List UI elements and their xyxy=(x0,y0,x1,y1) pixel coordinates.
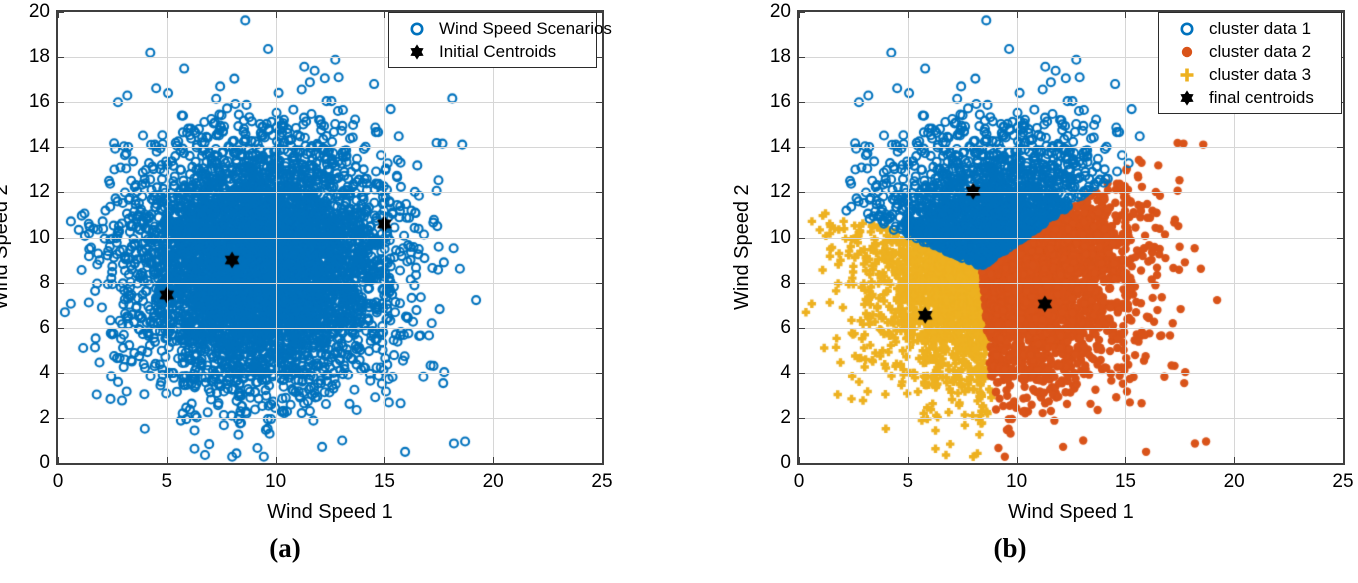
x-tick-label: 25 xyxy=(1332,471,1353,493)
x-tick-label: 20 xyxy=(1224,471,1245,493)
filled-hexagram-icon xyxy=(1177,88,1197,108)
y-tick xyxy=(799,147,805,148)
y-tick xyxy=(58,238,64,239)
legend-marker xyxy=(1165,19,1209,39)
x-tick-label: 20 xyxy=(483,471,504,493)
panel-b: 051015202502468101214161820 Wind Speed 1… xyxy=(679,0,1358,583)
x-tick xyxy=(908,12,909,18)
y-tick-label: 2 xyxy=(749,407,791,429)
x-tick xyxy=(1343,457,1344,463)
gridline-v xyxy=(384,12,385,463)
gridline-h xyxy=(58,147,602,148)
x-tick xyxy=(602,457,603,463)
y-tick xyxy=(58,102,64,103)
y-tick xyxy=(596,463,602,464)
x-tick-label: 15 xyxy=(374,471,395,493)
x-axis-title-b: Wind Speed 1 xyxy=(921,501,1221,524)
y-tick xyxy=(1337,373,1343,374)
x-tick-label: 25 xyxy=(591,471,612,493)
y-tick xyxy=(799,12,805,13)
x-tick xyxy=(602,12,603,18)
legend-item: cluster data 1 xyxy=(1165,17,1333,40)
legend-b: cluster data 1cluster data 2cluster data… xyxy=(1158,12,1342,114)
legend-label: cluster data 2 xyxy=(1209,42,1311,62)
y-tick-label: 10 xyxy=(749,227,791,249)
y-tick xyxy=(596,102,602,103)
x-tick xyxy=(1017,457,1018,463)
legend-label: final centroids xyxy=(1209,88,1314,108)
gridline-v xyxy=(908,12,909,463)
x-tick-label: 5 xyxy=(903,471,914,493)
figure-root: 051015202502468101214161820 Wind Speed 1… xyxy=(0,0,1358,583)
y-tick xyxy=(596,328,602,329)
y-tick xyxy=(58,147,64,148)
legend-item: final centroids xyxy=(1165,86,1333,109)
gridline-h xyxy=(58,283,602,284)
subfigure-caption-b: (b) xyxy=(994,533,1027,564)
y-tick xyxy=(1337,283,1343,284)
y-tick-label: 8 xyxy=(8,272,50,294)
y-tick xyxy=(1337,192,1343,193)
x-tick-label: 5 xyxy=(162,471,173,493)
panel-a: 051015202502468101214161820 Wind Speed 1… xyxy=(0,0,679,583)
y-tick xyxy=(58,192,64,193)
y-tick xyxy=(1337,328,1343,329)
legend-item: Initial Centroids xyxy=(395,40,588,63)
y-tick xyxy=(799,102,805,103)
legend-item: cluster data 3 xyxy=(1165,63,1333,86)
y-tick-label: 4 xyxy=(8,362,50,384)
y-tick-label: 2 xyxy=(8,407,50,429)
gridline-h xyxy=(58,328,602,329)
y-tick-label: 14 xyxy=(8,136,50,158)
gridline-h xyxy=(799,418,1343,419)
gridline-h xyxy=(799,328,1343,329)
y-tick-label: 14 xyxy=(749,136,791,158)
gridline-v xyxy=(167,12,168,463)
subfigure-caption-a: (a) xyxy=(269,533,300,564)
y-tick xyxy=(1337,463,1343,464)
x-tick-label: 0 xyxy=(794,471,805,493)
y-tick-label: 6 xyxy=(8,317,50,339)
y-tick xyxy=(58,418,64,419)
gridline-h xyxy=(58,373,602,374)
y-tick xyxy=(1337,147,1343,148)
gridline-h xyxy=(58,192,602,193)
x-tick xyxy=(1125,457,1126,463)
legend-item: cluster data 2 xyxy=(1165,40,1333,63)
legend-marker xyxy=(1165,65,1209,85)
gridline-v xyxy=(1125,12,1126,463)
y-tick-label: 16 xyxy=(8,91,50,113)
y-tick xyxy=(58,57,64,58)
y-tick-label: 18 xyxy=(8,46,50,68)
y-tick xyxy=(799,328,805,329)
gridline-v xyxy=(276,12,277,463)
plus-icon xyxy=(1177,65,1197,85)
x-tick xyxy=(167,457,168,463)
x-tick xyxy=(1234,457,1235,463)
y-tick xyxy=(58,463,64,464)
y-tick xyxy=(1337,418,1343,419)
y-tick xyxy=(58,328,64,329)
gridline-h xyxy=(799,373,1343,374)
y-tick xyxy=(596,373,602,374)
y-axis-title-b: Wind Speed 2 xyxy=(731,184,754,310)
y-axis-title-a: Wind Speed 2 xyxy=(0,184,13,310)
y-tick-label: 0 xyxy=(749,452,791,474)
legend-label: Initial Centroids xyxy=(439,42,556,62)
legend-a: Wind Speed ScenariosInitial Centroids xyxy=(388,12,597,68)
legend-marker xyxy=(395,19,439,39)
x-tick xyxy=(1125,12,1126,18)
x-tick xyxy=(167,12,168,18)
x-tick xyxy=(276,457,277,463)
legend-label: cluster data 3 xyxy=(1209,65,1311,85)
gridline-v xyxy=(493,12,494,463)
y-tick xyxy=(596,192,602,193)
y-tick xyxy=(799,373,805,374)
y-tick xyxy=(58,12,64,13)
y-tick xyxy=(799,57,805,58)
y-tick xyxy=(58,373,64,374)
y-tick xyxy=(596,418,602,419)
y-tick-label: 20 xyxy=(8,1,50,23)
x-tick xyxy=(1017,12,1018,18)
x-tick-label: 0 xyxy=(53,471,64,493)
gridline-h xyxy=(799,238,1343,239)
y-tick xyxy=(596,283,602,284)
x-tick xyxy=(493,457,494,463)
y-tick xyxy=(799,283,805,284)
gridline-h xyxy=(799,283,1343,284)
plot-area-a xyxy=(56,10,604,465)
legend-item: Wind Speed Scenarios xyxy=(395,17,588,40)
y-tick-label: 12 xyxy=(749,181,791,203)
x-tick xyxy=(384,457,385,463)
open-circle-icon xyxy=(1177,19,1197,39)
y-tick xyxy=(58,283,64,284)
gridline-h xyxy=(58,238,602,239)
x-tick-label: 15 xyxy=(1115,471,1136,493)
y-tick xyxy=(799,463,805,464)
y-tick-label: 0 xyxy=(8,452,50,474)
filled-hexagram-icon xyxy=(407,42,427,62)
gridline-h xyxy=(58,418,602,419)
x-tick-label: 10 xyxy=(1006,471,1027,493)
y-tick-label: 16 xyxy=(749,91,791,113)
gridline-h xyxy=(799,147,1343,148)
y-tick xyxy=(1337,238,1343,239)
y-tick xyxy=(799,192,805,193)
x-tick-label: 10 xyxy=(265,471,286,493)
legend-marker xyxy=(1165,88,1209,108)
x-tick xyxy=(384,12,385,18)
gridline-h xyxy=(799,192,1343,193)
y-tick-label: 18 xyxy=(749,46,791,68)
open-circle-icon xyxy=(407,19,427,39)
legend-marker xyxy=(1165,42,1209,62)
y-tick-label: 8 xyxy=(749,272,791,294)
y-tick xyxy=(596,147,602,148)
y-tick-label: 12 xyxy=(8,181,50,203)
gridline-v xyxy=(1017,12,1018,463)
y-tick-label: 10 xyxy=(8,227,50,249)
y-tick-label: 20 xyxy=(749,1,791,23)
filled-circle-icon xyxy=(1177,42,1197,62)
x-axis-title-a: Wind Speed 1 xyxy=(180,501,480,524)
gridline-h xyxy=(58,102,602,103)
x-tick xyxy=(1343,12,1344,18)
y-tick xyxy=(799,238,805,239)
x-tick xyxy=(908,457,909,463)
legend-label: cluster data 1 xyxy=(1209,19,1311,39)
legend-marker xyxy=(395,42,439,62)
x-tick xyxy=(276,12,277,18)
y-tick xyxy=(799,418,805,419)
y-tick-label: 6 xyxy=(749,317,791,339)
y-tick xyxy=(596,238,602,239)
legend-label: Wind Speed Scenarios xyxy=(439,19,612,39)
y-tick-label: 4 xyxy=(749,362,791,384)
